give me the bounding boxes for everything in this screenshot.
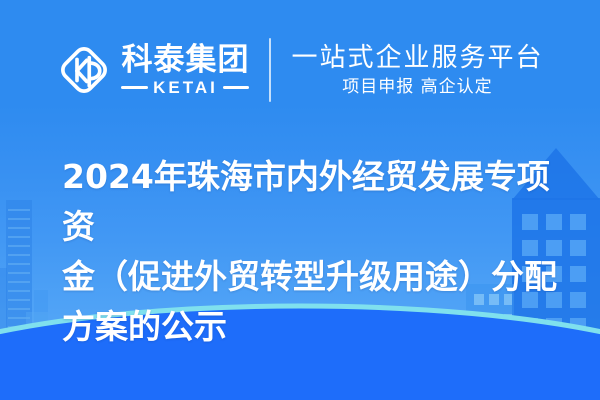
brand-name-en-row: KETAI	[121, 79, 249, 97]
ketai-diamond-kd-logo-icon	[56, 42, 112, 98]
slogan-primary: 一站式企业服务平台	[291, 43, 543, 73]
header-slogan: 一站式企业服务平台 项目申报 高企认定	[291, 43, 543, 97]
brand-name-cn: 科泰集团	[121, 44, 249, 77]
wordmark-rule-right	[223, 86, 250, 89]
page-title-line: 方案的公示	[62, 302, 582, 352]
slogan-secondary: 项目申报 高企认定	[342, 77, 492, 97]
header-divider	[269, 38, 271, 102]
brand-name-en: KETAI	[153, 79, 218, 97]
page-title: 2024年珠海市内外经贸发展专项资 金（促进外贸转型升级用途）分配 方案的公示	[62, 152, 582, 352]
brand-logo[interactable]: 科泰集团 KETAI	[56, 42, 249, 98]
page-title-line: 金（促进外贸转型升级用途）分配	[62, 252, 582, 302]
wordmark-rule-left	[121, 86, 148, 89]
page-title-line: 2024年珠海市内外经贸发展专项资	[62, 152, 582, 252]
banner-header: 科泰集团 KETAI 一站式企业服务平台 项目申报 高企认定	[0, 0, 600, 140]
announcement-banner: 科泰集团 KETAI 一站式企业服务平台 项目申报 高企认定 2024年珠海市内…	[0, 0, 600, 400]
brand-wordmark: 科泰集团 KETAI	[121, 44, 249, 97]
